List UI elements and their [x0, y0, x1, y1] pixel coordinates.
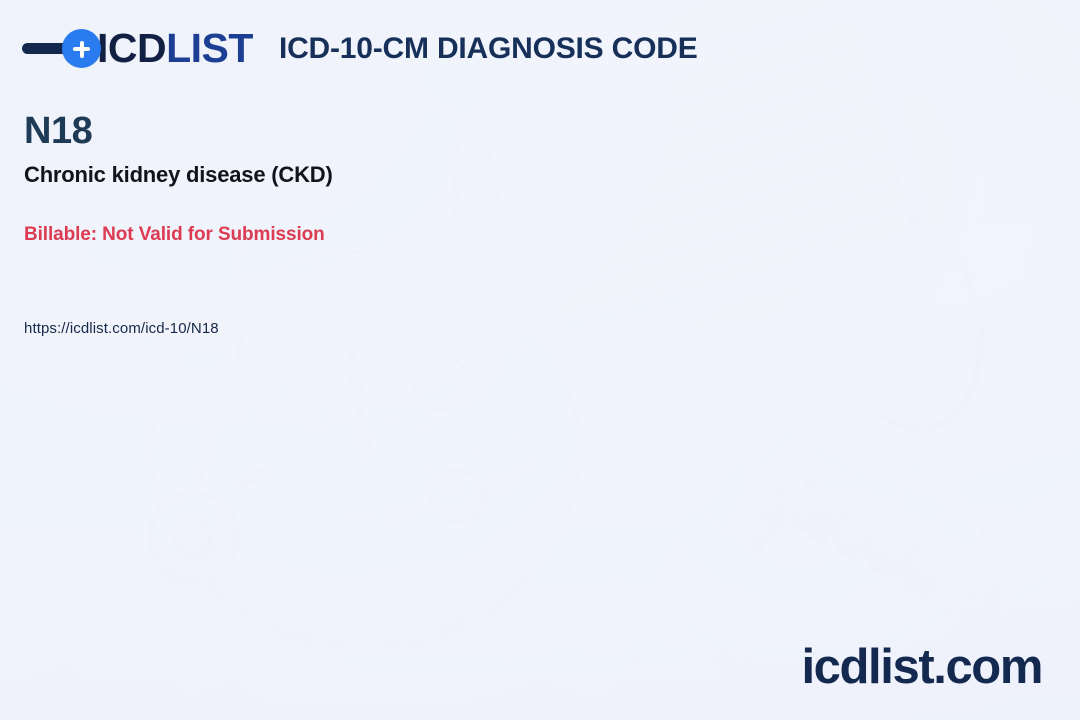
- logo-word-list: LIST: [166, 25, 253, 71]
- diagnosis-code-block: N18 Chronic kidney disease (CKD) Billabl…: [24, 112, 333, 246]
- page-title: ICD-10-CM DIAGNOSIS CODE: [279, 32, 698, 66]
- logo-wordmark: ICDLIST: [97, 28, 253, 69]
- header: ICDLIST ICD-10-CM DIAGNOSIS CODE: [22, 28, 698, 69]
- logo-word-icd: ICD: [97, 25, 166, 71]
- icdlist-logo[interactable]: ICDLIST: [22, 28, 253, 69]
- diagnosis-code: N18: [24, 112, 333, 152]
- diagnosis-description: Chronic kidney disease (CKD): [24, 162, 333, 188]
- poster-content: ICDLIST ICD-10-CM DIAGNOSIS CODE N18 Chr…: [0, 0, 1080, 720]
- plus-icon: [62, 29, 101, 68]
- billable-status-badge: Billable: Not Valid for Submission: [24, 224, 333, 246]
- footer-brand-wordmark: icdlist.com: [801, 643, 1042, 692]
- source-url[interactable]: https://icdlist.com/icd-10/N18: [24, 320, 219, 337]
- plus-icon-vertical-bar: [80, 41, 84, 58]
- poster-canvas: ICDLIST ICD-10-CM DIAGNOSIS CODE N18 Chr…: [0, 0, 1080, 720]
